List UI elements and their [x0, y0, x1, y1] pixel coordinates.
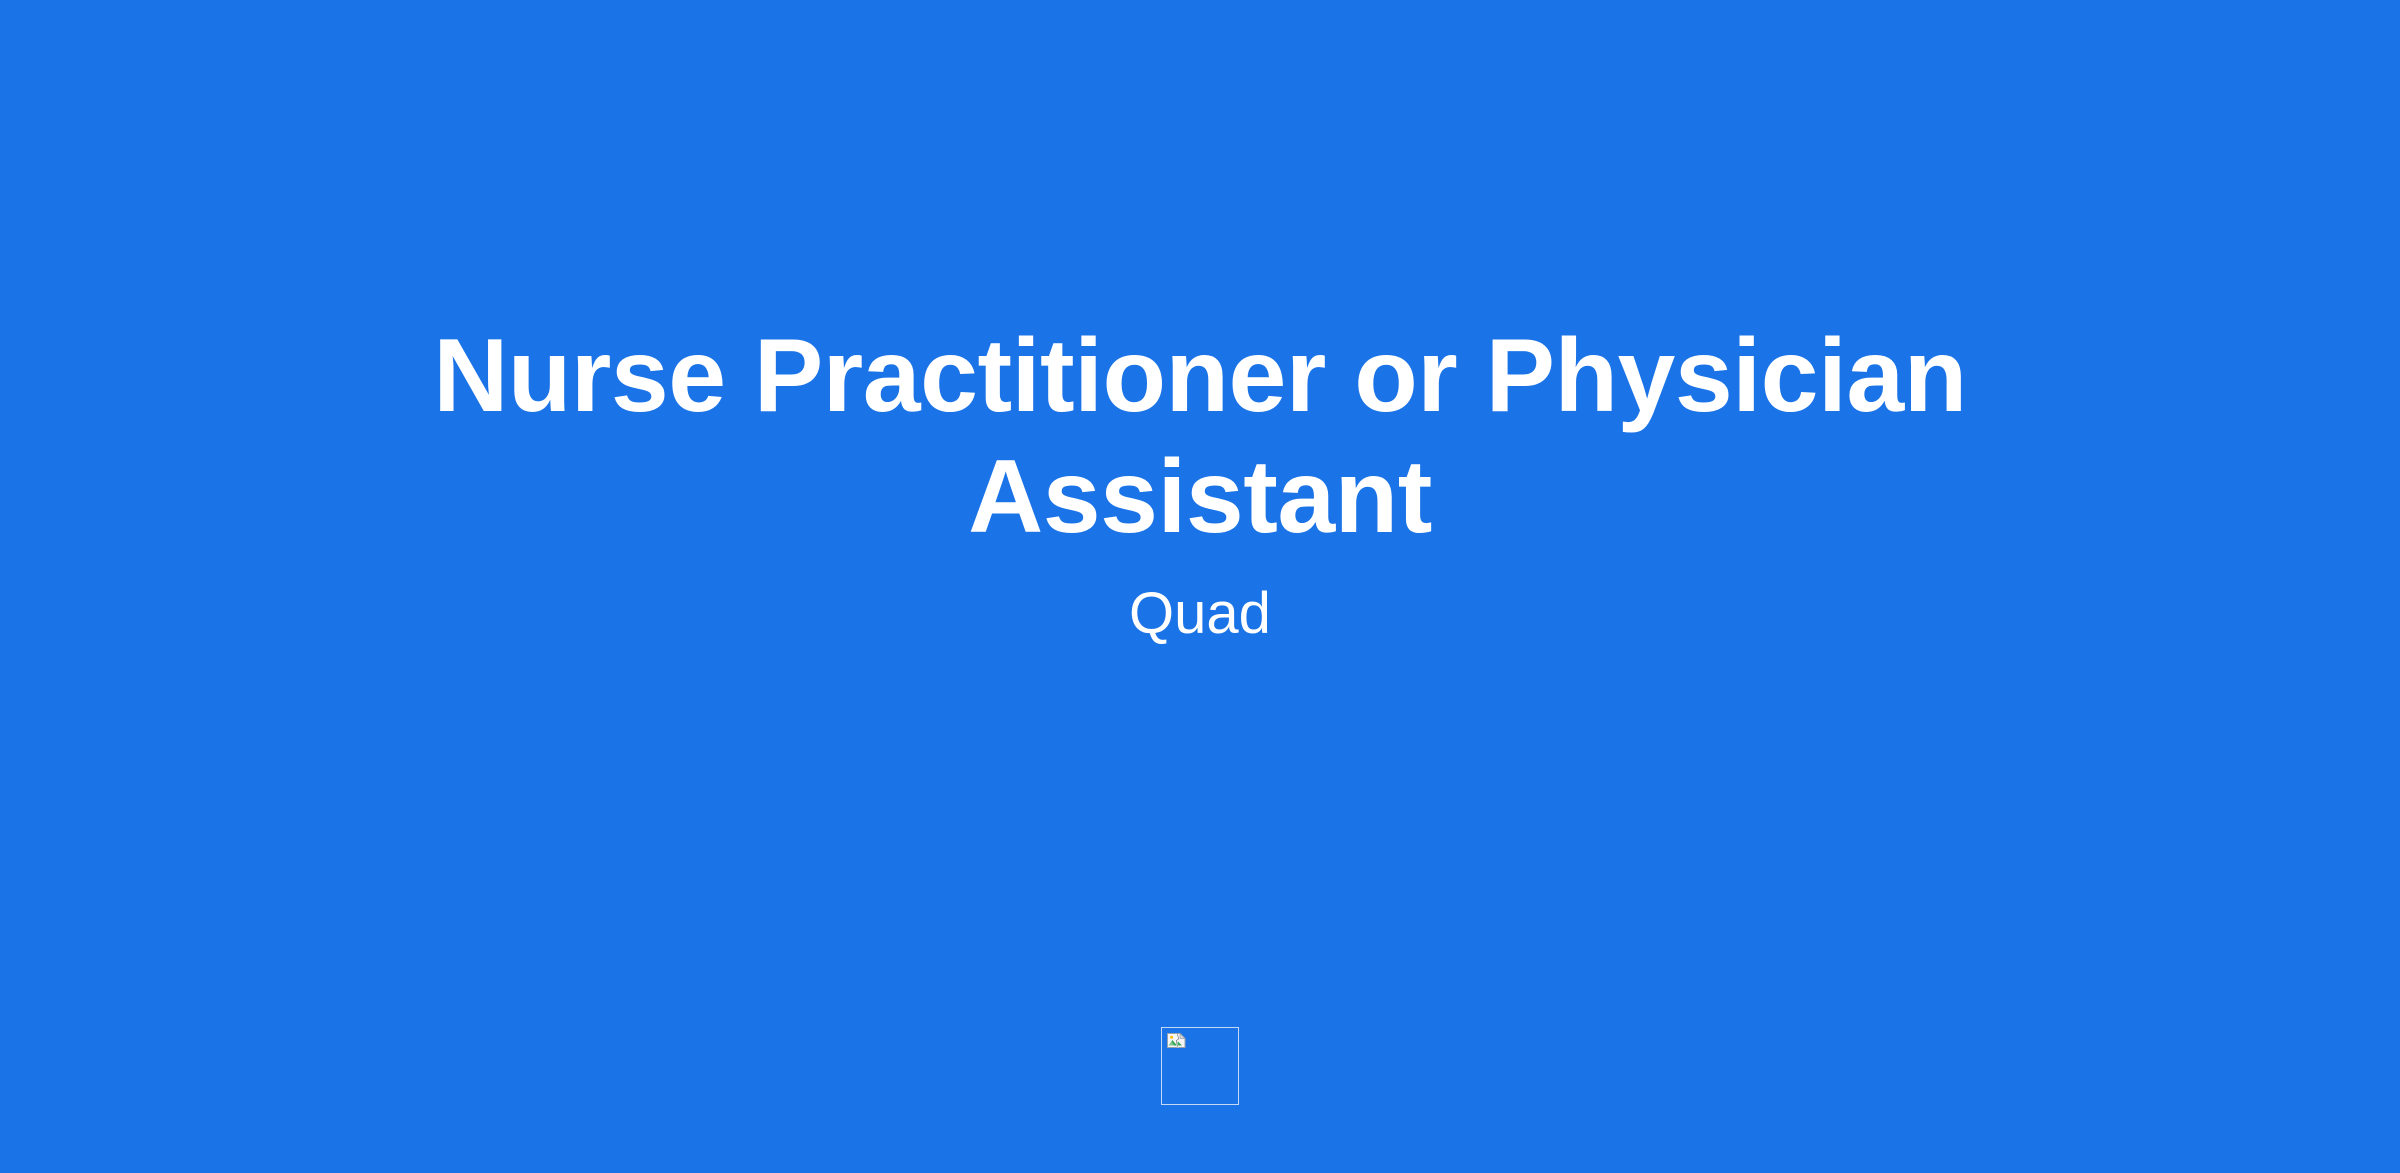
- page-title: Nurse Practitioner or Physician Assistan…: [340, 316, 2060, 557]
- title-block: Nurse Practitioner or Physician Assistan…: [0, 0, 2400, 649]
- image-placeholder-slot: [1161, 1027, 1239, 1105]
- broken-image-placeholder[interactable]: [1161, 1027, 1239, 1105]
- slide-canvas: Nurse Practitioner or Physician Assistan…: [0, 0, 2400, 1173]
- page-subtitle: Quad: [1129, 579, 1271, 649]
- broken-image-icon: [1165, 1031, 1189, 1055]
